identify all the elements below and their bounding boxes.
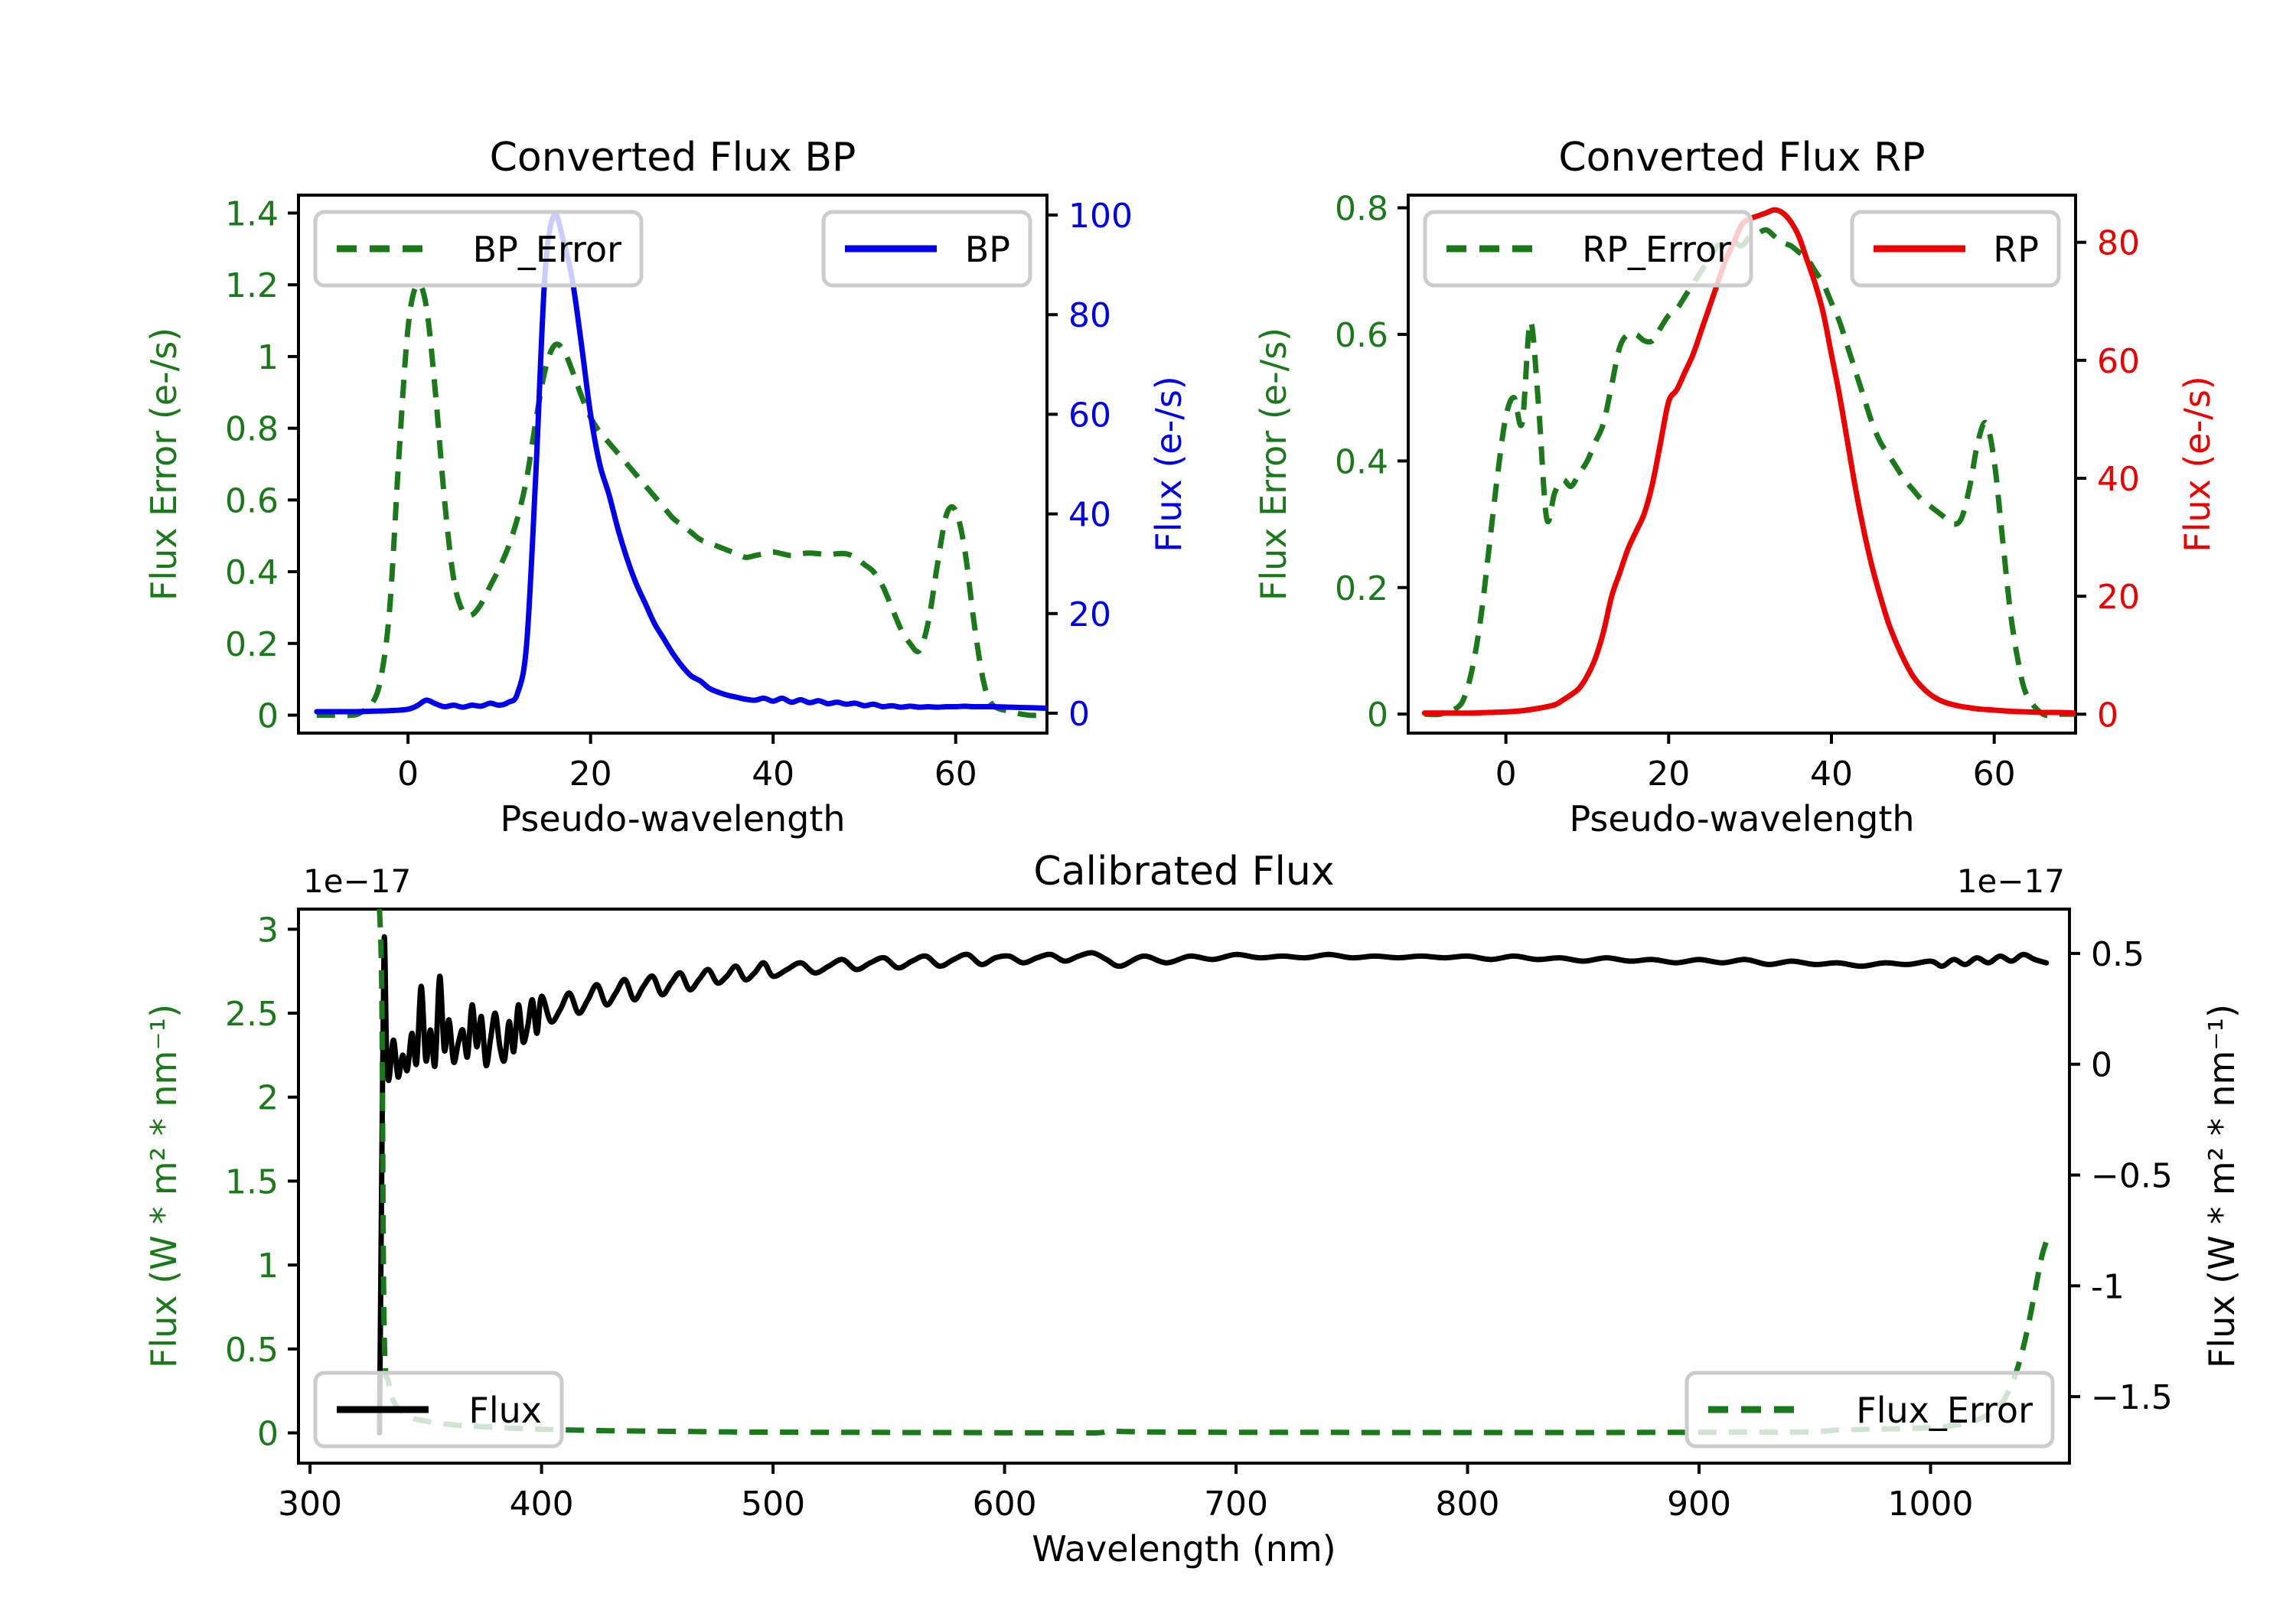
series-rp-rp_error (1424, 230, 2076, 715)
ytick-label-left-rp-0.6: 0.6 (1335, 316, 1388, 355)
legend-label-rp_error: RP_Error (1582, 229, 1731, 270)
xtick-label-rp-20: 20 (1647, 755, 1690, 794)
series-bp-bp_error (317, 284, 1047, 715)
ytick-label-left-calibrated-0: 0 (257, 1415, 279, 1454)
xaxis-title-bp: Pseudo-wavelength (500, 798, 845, 839)
ytick-label-left-bp-1.2: 1.2 (225, 266, 279, 305)
data-layer-calibrated (380, 909, 2047, 1433)
ytick-label-right-calibrated--1.5: −1.5 (2091, 1378, 2173, 1417)
ytick-label-right-calibrated--0.5: −0.5 (2091, 1157, 2173, 1196)
xtick-label-calibrated-300: 300 (278, 1485, 342, 1524)
ytick-label-left-calibrated-0.5: 0.5 (225, 1331, 279, 1370)
ytick-label-right-rp-60: 60 (2097, 342, 2140, 381)
xtick-label-bp-40: 40 (752, 755, 794, 794)
xtick-label-calibrated-900: 900 (1667, 1485, 1731, 1524)
xtick-label-calibrated-400: 400 (510, 1485, 574, 1524)
data-layer-bp (317, 214, 1047, 715)
ytick-label-left-bp-0.8: 0.8 (225, 410, 279, 449)
ytick-label-right-bp-20: 20 (1068, 595, 1111, 634)
xtick-label-bp-20: 20 (569, 755, 612, 794)
xtick-label-rp-40: 40 (1810, 755, 1853, 794)
plot-title-calibrated: Calibrated Flux (1033, 849, 1334, 895)
ytick-label-left-rp-0: 0 (1367, 696, 1388, 735)
yaxis-title-right-bp: Flux (e-/s) (1148, 376, 1189, 553)
legend-label-bp_error: BP_Error (473, 229, 622, 270)
ytick-label-right-calibrated-0.5: 0.5 (2091, 935, 2144, 974)
yaxis-title-right-rp: Flux (e-/s) (2177, 376, 2218, 553)
xtick-label-calibrated-500: 500 (741, 1485, 805, 1524)
xtick-label-calibrated-1000: 1000 (1888, 1485, 1974, 1524)
series-calibrated-flux (380, 937, 2047, 1433)
ytick-label-right-calibrated-0: 0 (2091, 1046, 2112, 1085)
legend-label-flux: Flux (468, 1390, 542, 1431)
xtick-label-calibrated-700: 700 (1204, 1485, 1268, 1524)
ytick-label-left-calibrated-1: 1 (257, 1247, 279, 1286)
ytick-label-left-bp-1: 1 (257, 338, 279, 377)
plot-title-bp: Converted Flux BP (490, 135, 856, 181)
ytick-label-left-calibrated-3: 3 (257, 911, 279, 950)
offset-label-right-calibrated: 1e−17 (1957, 862, 2065, 900)
ytick-label-right-rp-20: 20 (2097, 578, 2140, 617)
ytick-label-left-bp-0.2: 0.2 (225, 625, 279, 664)
xtick-label-rp-0: 0 (1495, 755, 1517, 794)
ytick-label-left-calibrated-2: 2 (257, 1079, 279, 1118)
xtick-label-rp-60: 60 (1973, 755, 2016, 794)
legend-calibrated-flux[interactable]: Flux (315, 1373, 562, 1446)
legend-label-rp: RP (1993, 229, 2039, 270)
ytick-label-left-bp-0.4: 0.4 (225, 553, 279, 592)
legend-calibrated-flux_error[interactable]: Flux_Error (1687, 1373, 2053, 1446)
ytick-label-right-bp-100: 100 (1068, 197, 1133, 236)
yaxis-title-left-rp: Flux Error (e-/s) (1253, 328, 1294, 601)
figure-canvas: Converted Flux BP0204060Pseudo-wavelengt… (0, 0, 2296, 1607)
legend-bp-bp[interactable]: BP (823, 212, 1030, 285)
ytick-label-right-calibrated--1: -1 (2091, 1267, 2125, 1306)
chart-bp: Converted Flux BP0204060Pseudo-wavelengt… (143, 135, 1189, 839)
yaxis-title-left-calibrated: Flux (W * m² * nm⁻¹) (143, 1004, 184, 1368)
ytick-label-left-rp-0.2: 0.2 (1335, 569, 1388, 608)
yaxis-title-right-calibrated: Flux (W * m² * nm⁻¹) (2201, 1004, 2242, 1368)
yaxis-title-left-bp: Flux Error (e-/s) (143, 328, 184, 601)
matplotlib-figure: Converted Flux BP0204060Pseudo-wavelengt… (0, 0, 2296, 1607)
ytick-label-right-bp-0: 0 (1068, 695, 1090, 734)
ytick-label-right-bp-40: 40 (1068, 496, 1111, 535)
ytick-label-left-rp-0.4: 0.4 (1335, 442, 1388, 481)
ytick-label-right-bp-60: 60 (1068, 396, 1111, 435)
legend-bp-bp_error[interactable]: BP_Error (315, 212, 641, 285)
ytick-label-left-bp-1.4: 1.4 (225, 194, 279, 233)
xtick-label-calibrated-600: 600 (973, 1485, 1037, 1524)
ytick-label-right-rp-80: 80 (2097, 224, 2140, 263)
legend-label-flux_error: Flux_Error (1856, 1390, 2033, 1431)
ytick-label-left-bp-0: 0 (257, 697, 279, 736)
ytick-label-right-bp-80: 80 (1068, 296, 1111, 335)
ytick-label-left-calibrated-2.5: 2.5 (225, 995, 279, 1034)
legend-rp-rp_error[interactable]: RP_Error (1425, 212, 1751, 285)
xaxis-title-rp: Pseudo-wavelength (1569, 798, 1914, 839)
offset-label-left-calibrated: 1e−17 (303, 862, 411, 900)
ytick-label-left-calibrated-1.5: 1.5 (225, 1162, 279, 1201)
series-bp-bp (317, 214, 1047, 712)
chart-calibrated: Calibrated Flux1e−171e−17300400500600700… (143, 849, 2242, 1570)
chart-rp: Converted Flux RP0204060Pseudo-wavelengt… (1253, 135, 2218, 839)
xtick-label-bp-60: 60 (934, 755, 977, 794)
ytick-label-right-rp-0: 0 (2097, 696, 2118, 735)
legend-label-bp: BP (965, 229, 1010, 270)
xaxis-title-calibrated: Wavelength (nm) (1032, 1528, 1336, 1570)
ytick-label-right-rp-40: 40 (2097, 460, 2140, 499)
ytick-label-left-bp-0.6: 0.6 (225, 481, 279, 520)
legend-rp-rp[interactable]: RP (1852, 212, 2059, 285)
plot-title-rp: Converted Flux RP (1558, 135, 1925, 181)
xtick-label-bp-0: 0 (397, 755, 419, 794)
xtick-label-calibrated-800: 800 (1436, 1485, 1500, 1524)
ytick-label-left-rp-0.8: 0.8 (1335, 190, 1388, 229)
